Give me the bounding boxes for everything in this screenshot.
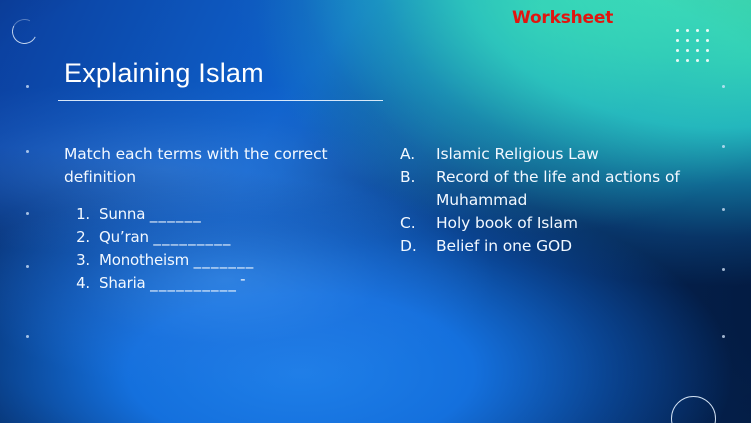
- term-word: Sharia: [99, 274, 150, 292]
- edge-dot: [26, 265, 29, 268]
- answer-blank-tail: -: [240, 270, 245, 288]
- term-number: 2.: [64, 228, 99, 246]
- term-word: Qu’ran: [99, 228, 153, 246]
- definition-item: C.Holy book of Islam: [400, 212, 730, 235]
- edge-dot: [722, 335, 725, 338]
- page-title: Explaining Islam: [64, 58, 264, 89]
- worksheet-badge: Worksheet: [512, 8, 613, 28]
- answer-blank[interactable]: _______: [194, 251, 255, 269]
- definition-letter: D.: [400, 235, 436, 258]
- title-divider: [58, 100, 383, 101]
- definition-text: Holy book of Islam: [436, 212, 730, 235]
- term-item: 1.Sunna ______: [64, 205, 384, 228]
- answer-blank[interactable]: ______: [150, 205, 202, 223]
- instruction-text: Match each terms with the correct defini…: [64, 143, 354, 189]
- answer-blank[interactable]: __________: [150, 274, 237, 292]
- definition-item: A.Islamic Religious Law: [400, 143, 730, 166]
- worksheet-slide: Worksheet Explaining Islam Match each te…: [0, 0, 751, 423]
- circle-icon: [671, 396, 716, 423]
- edge-dot: [26, 150, 29, 153]
- edge-dot: [26, 85, 29, 88]
- term-item: 4.Sharia __________-: [64, 274, 384, 297]
- definition-letter: B.: [400, 166, 436, 189]
- term-item: 2.Qu’ran _________: [64, 228, 384, 251]
- edge-dot: [26, 335, 29, 338]
- arc-icon: [9, 16, 41, 48]
- answer-blank[interactable]: _________: [153, 228, 231, 246]
- definition-text: Belief in one GOD: [436, 235, 730, 258]
- term-number: 3.: [64, 251, 99, 269]
- term-word: Sunna: [99, 205, 150, 223]
- definition-text: Record of the life and actions of Muhamm…: [436, 166, 730, 212]
- term-item: 3.Monotheism _______: [64, 251, 384, 274]
- definition-text: Islamic Religious Law: [436, 143, 730, 166]
- definitions-list: A.Islamic Religious LawB.Record of the l…: [400, 143, 730, 258]
- definition-letter: A.: [400, 143, 436, 166]
- term-word: Monotheism: [99, 251, 194, 269]
- term-number: 4.: [64, 274, 99, 292]
- definition-letter: C.: [400, 212, 436, 235]
- edge-dot: [26, 212, 29, 215]
- terms-list: 1.Sunna ______2.Qu’ran _________3.Monoth…: [64, 205, 384, 297]
- definition-item: D.Belief in one GOD: [400, 235, 730, 258]
- dot-grid-icon: [676, 29, 716, 69]
- term-number: 1.: [64, 205, 99, 223]
- edge-dot: [722, 85, 725, 88]
- definition-item: B.Record of the life and actions of Muha…: [400, 166, 730, 212]
- edge-dot: [722, 268, 725, 271]
